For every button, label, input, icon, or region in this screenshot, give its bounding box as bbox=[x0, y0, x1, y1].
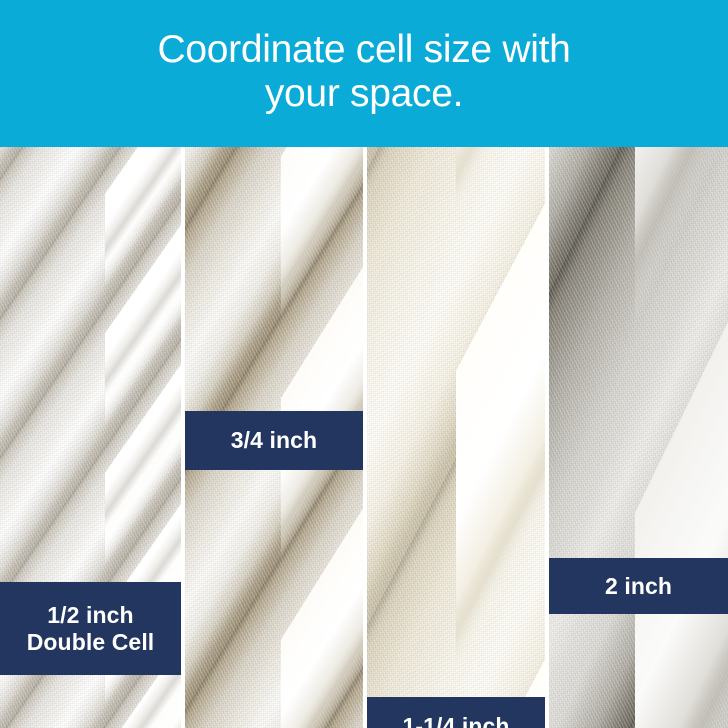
label-three-quarter-inch: 3/4 inch bbox=[185, 411, 363, 470]
label-line-primary: 3/4 inch bbox=[231, 427, 317, 454]
label-two-inch: 2 inch bbox=[549, 558, 728, 614]
label-line-secondary: Double Cell bbox=[27, 629, 155, 656]
folded-edge-highlight bbox=[456, 147, 545, 728]
fabric-panel-one-and-quarter-inch bbox=[367, 147, 545, 728]
fabric-panel-strip: 1/2 inch Double Cell 3/4 inch 1-1/4 inch… bbox=[0, 147, 728, 728]
label-half-inch-double-cell: 1/2 inch Double Cell bbox=[0, 582, 181, 675]
folded-edge-highlight bbox=[635, 147, 728, 728]
fabric-panel-two-inch bbox=[549, 147, 728, 728]
header-banner: Coordinate cell size with your space. bbox=[0, 0, 728, 147]
label-one-and-quarter-inch: 1-1/4 inch bbox=[367, 697, 545, 728]
cell-size-comparison-poster: Coordinate cell size with your space. bbox=[0, 0, 728, 728]
label-line-primary: 2 inch bbox=[605, 573, 672, 600]
label-line-primary: 1-1/4 inch bbox=[402, 713, 509, 728]
label-line-primary: 1/2 inch bbox=[47, 602, 133, 629]
page-title: Coordinate cell size with your space. bbox=[157, 28, 570, 119]
